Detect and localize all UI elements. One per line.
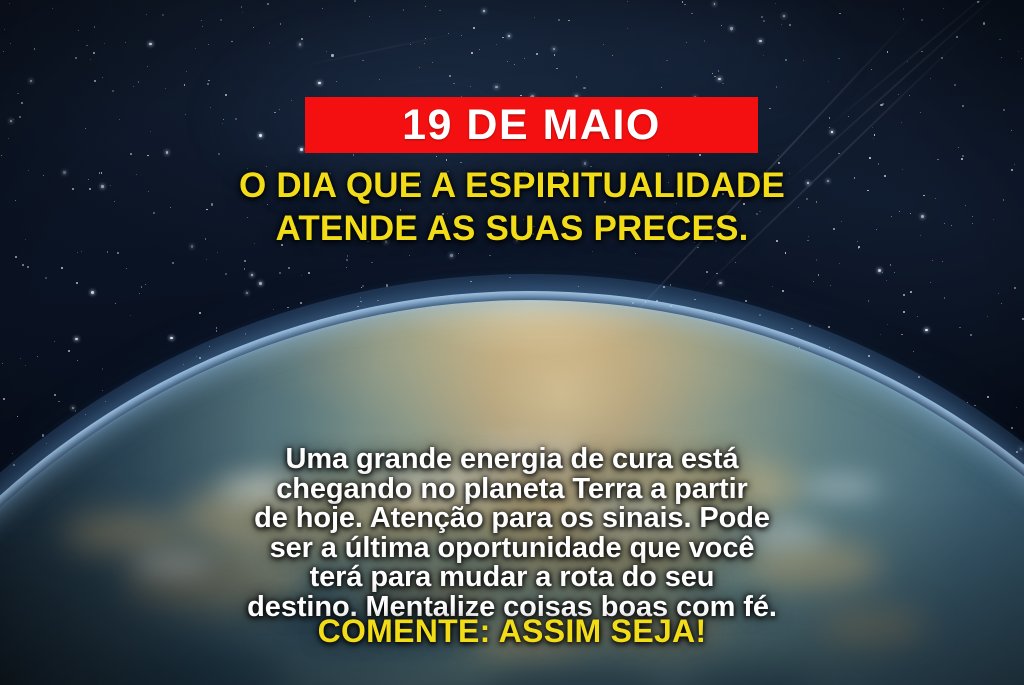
- headline: O DIA QUE A ESPIRITUALIDADE ATENDE AS SU…: [0, 165, 1024, 250]
- body-line-5: terá para mudar a rota do seu: [62, 563, 962, 593]
- poster-canvas: 19 DE MAIO O DIA QUE A ESPIRITUALIDADE A…: [0, 0, 1024, 685]
- body-line-1: Uma grande energia de cura está: [62, 445, 962, 475]
- date-banner: 19 DE MAIO: [305, 97, 758, 153]
- body-line-2: chegando no planeta Terra a partir: [62, 475, 962, 505]
- poster-content: 19 DE MAIO O DIA QUE A ESPIRITUALIDADE A…: [0, 0, 1024, 685]
- call-to-action: COMENTE: ASSIM SEJA!: [0, 614, 1024, 649]
- date-banner-label: 19 DE MAIO: [402, 104, 661, 147]
- headline-line-1: O DIA QUE A ESPIRITUALIDADE: [0, 165, 1024, 208]
- body-line-3: de hoje. Atenção para os sinais. Pode: [62, 504, 962, 534]
- headline-line-2: ATENDE AS SUAS PRECES.: [0, 208, 1024, 251]
- body-line-4: ser a última oportunidade que você: [62, 534, 962, 564]
- body-paragraph: Uma grande energia de cura está chegando…: [62, 445, 962, 622]
